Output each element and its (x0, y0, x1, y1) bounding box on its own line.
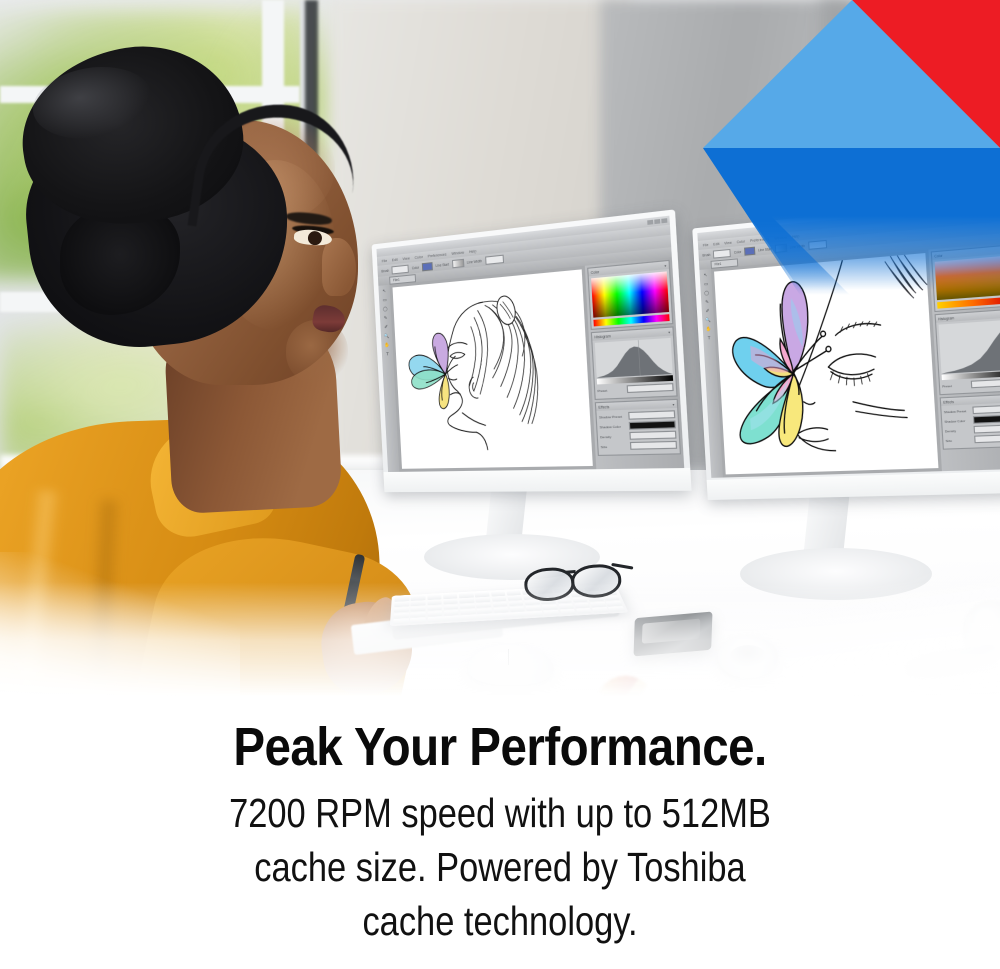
density-input[interactable] (629, 431, 676, 440)
subtext: 7200 RPM speed with up to 512MB cache si… (172, 786, 827, 948)
hero-photo: File Edit View Color Preferences Window … (0, 0, 1000, 712)
shadow-color-swatch[interactable] (629, 420, 676, 429)
line-start-label: Line Start (435, 262, 449, 267)
histogram-panel: Histogram ▾ (591, 326, 678, 400)
size-input[interactable] (974, 434, 1000, 443)
effects-panel: Effects ▾ Shadow Preset Shadow Color (595, 399, 681, 456)
size-label: Size (601, 444, 628, 449)
effects-row: Density (600, 431, 677, 441)
photo-fade-bottom (0, 582, 1000, 712)
subtext-line-2: cache size. Powered by Toshiba (172, 840, 827, 894)
minimize-icon[interactable] (647, 220, 653, 225)
color-panel-title: Color (591, 269, 600, 274)
effects-row: Size (945, 434, 1000, 444)
panel-collapse-icon[interactable]: ▾ (672, 402, 674, 407)
brush-tool-icon[interactable]: ✐ (704, 307, 711, 315)
density-label: Density (600, 434, 627, 439)
effects-row: Size (600, 441, 677, 451)
effects-row: Shadow Preset (944, 404, 1000, 415)
headline: Peak Your Performance. (60, 718, 940, 776)
density-label: Density (945, 428, 972, 433)
effects-row: Density (945, 424, 1000, 435)
size-label: Size (945, 437, 972, 442)
shadow-preset-label: Shadow Preset (944, 408, 971, 413)
histogram-panel-body: Preset (936, 317, 1000, 394)
line-start-preview[interactable] (452, 258, 464, 267)
text-tool-icon[interactable]: T (706, 334, 713, 341)
subtext-line-1: 7200 RPM speed with up to 512MB (172, 786, 827, 840)
shadow-color-swatch[interactable] (973, 414, 1000, 424)
histogram-panel-body: Preset (592, 335, 676, 398)
histogram-panel: Histogram ▾ (935, 308, 1000, 395)
shadow-preset-select[interactable] (628, 410, 675, 419)
line-width-input[interactable] (485, 254, 504, 264)
color-field-picker[interactable] (591, 271, 669, 317)
subtext-line-3: cache technology. (172, 894, 827, 948)
size-input[interactable] (630, 441, 677, 450)
menu-item-help[interactable]: Help (469, 249, 477, 254)
color-panel-body (589, 269, 672, 329)
line-width-label: Line Width (467, 258, 482, 264)
histogram-panel-title: Histogram (938, 316, 954, 321)
histogram-preset-select[interactable] (971, 378, 1000, 388)
effects-panel-body: Shadow Preset Shadow Color Density (596, 408, 679, 455)
panel-collapse-icon[interactable]: ▾ (664, 263, 666, 268)
histogram-preset-label: Preset (597, 387, 624, 393)
panel-column: Color ▾ Histogram ▾ (585, 257, 684, 469)
effects-row: Shadow Color (599, 420, 676, 430)
effects-panel-body: Shadow Preset Shadow Color Density (941, 402, 1000, 448)
shadow-preset-label: Shadow Preset (599, 414, 626, 419)
hand-tool-icon[interactable]: ✋ (705, 325, 712, 332)
caption-block: Peak Your Performance. 7200 RPM speed wi… (0, 712, 1000, 969)
histogram-preset-label: Preset (942, 382, 969, 388)
histogram-panel-title: Histogram (594, 334, 611, 339)
blue-triangle (703, 148, 1000, 290)
effects-panel: Effects ▾ Shadow Preset Shadow Color (940, 393, 1000, 449)
zoom-tool-icon[interactable]: 🔍 (705, 316, 712, 324)
color-panel: Color ▾ (587, 260, 673, 330)
corner-graphic (690, 0, 1000, 300)
histogram-graph (595, 338, 673, 378)
menu-item-preferences[interactable]: Preferences (428, 252, 447, 258)
effects-row: Shadow Preset (599, 410, 676, 420)
histogram-graph (938, 320, 1000, 374)
effects-panel-title: Effects (943, 399, 954, 404)
effects-row: Shadow Color (944, 414, 1000, 425)
promo-banner: File Edit View Color Preferences Window … (0, 0, 1000, 969)
density-input[interactable] (974, 424, 1000, 433)
shadow-color-label: Shadow Color (599, 424, 626, 429)
shadow-color-label: Shadow Color (944, 418, 971, 423)
panel-collapse-icon[interactable]: ▾ (668, 329, 670, 334)
effects-panel-title: Effects (598, 404, 609, 409)
maximize-icon[interactable] (654, 219, 660, 224)
shadow-preset-select[interactable] (972, 404, 1000, 414)
menu-item-window[interactable]: Window (451, 250, 464, 255)
close-icon[interactable] (661, 218, 667, 223)
histogram-preset-select[interactable] (627, 383, 674, 393)
